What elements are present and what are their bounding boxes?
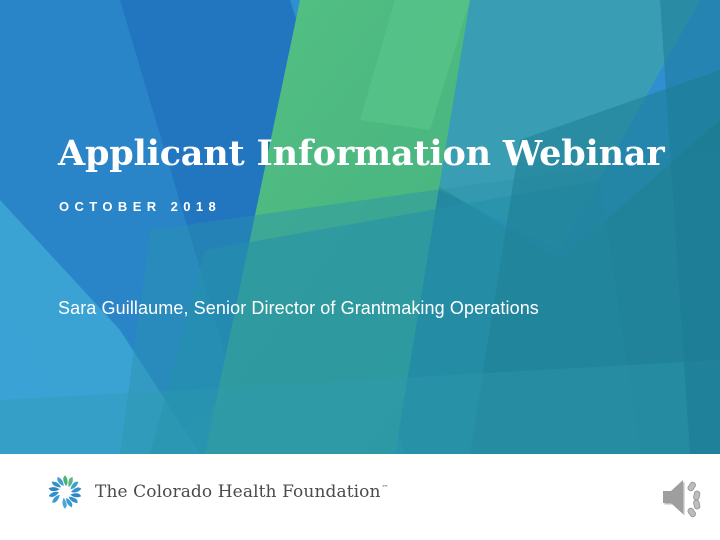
foundation-logo: The Colorado Health Foundation™: [44, 471, 389, 513]
foundation-name: The Colorado Health Foundation: [95, 482, 381, 502]
slide-date-eyebrow: OCTOBER 2018: [59, 199, 221, 214]
colorado-health-foundation-sunburst-icon: [44, 471, 86, 513]
sunburst-petals: [44, 471, 86, 513]
trademark-symbol: ™: [382, 484, 389, 492]
background-polygons: [0, 0, 720, 454]
slide-background-artwork: [0, 0, 720, 454]
foundation-wordmark: The Colorado Health Foundation™: [95, 482, 389, 502]
speaker-icon-glyph: [655, 469, 711, 525]
presentation-slide: Applicant Information Webinar OCTOBER 20…: [0, 0, 720, 540]
slide-title: Applicant Information Webinar: [58, 133, 678, 175]
slide-presenter-line: Sara Guillaume, Senior Director of Grant…: [58, 298, 539, 319]
speaker-sound-icon[interactable]: [655, 469, 711, 525]
